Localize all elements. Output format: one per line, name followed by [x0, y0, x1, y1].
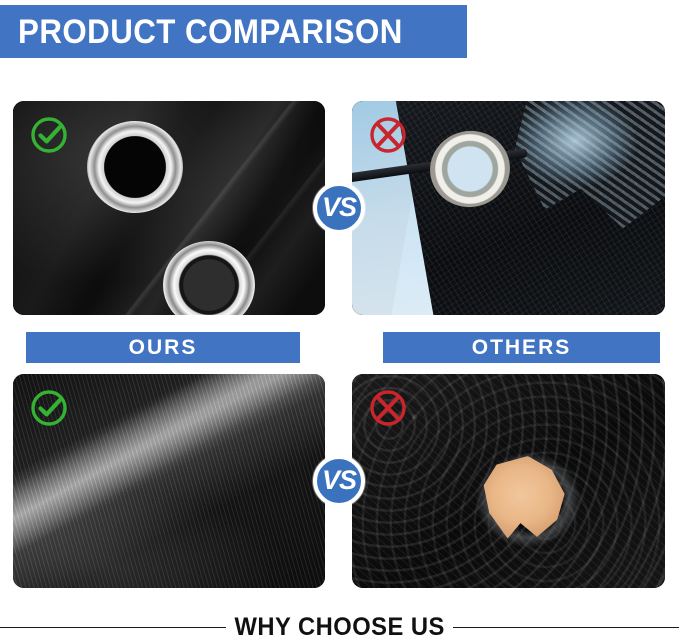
vs-badge-row-2: VS — [313, 455, 365, 507]
vs-label: VS — [322, 467, 356, 494]
footer-text: WHY CHOOSE US — [232, 615, 448, 640]
header-banner: PRODUCT COMPARISON — [0, 5, 467, 58]
check-circle-icon — [29, 388, 69, 428]
page-title: PRODUCT COMPARISON — [18, 15, 403, 49]
caption-bar-ours: OURS — [26, 332, 300, 363]
grommet-top — [87, 121, 183, 213]
vs-label: VS — [322, 194, 356, 221]
caption-others-label: OTHERS — [472, 337, 572, 358]
x-circle-icon — [368, 115, 408, 155]
vs-badge-row-1: VS — [313, 182, 365, 234]
caption-bar-others: OTHERS — [383, 332, 660, 363]
footer: WHY CHOOSE US — [0, 612, 679, 643]
footer-rule-left — [0, 627, 226, 628]
check-circle-icon — [29, 115, 69, 155]
x-circle-icon — [368, 388, 408, 428]
footer-rule-right — [453, 627, 679, 628]
caption-ours-label: OURS — [129, 337, 198, 358]
